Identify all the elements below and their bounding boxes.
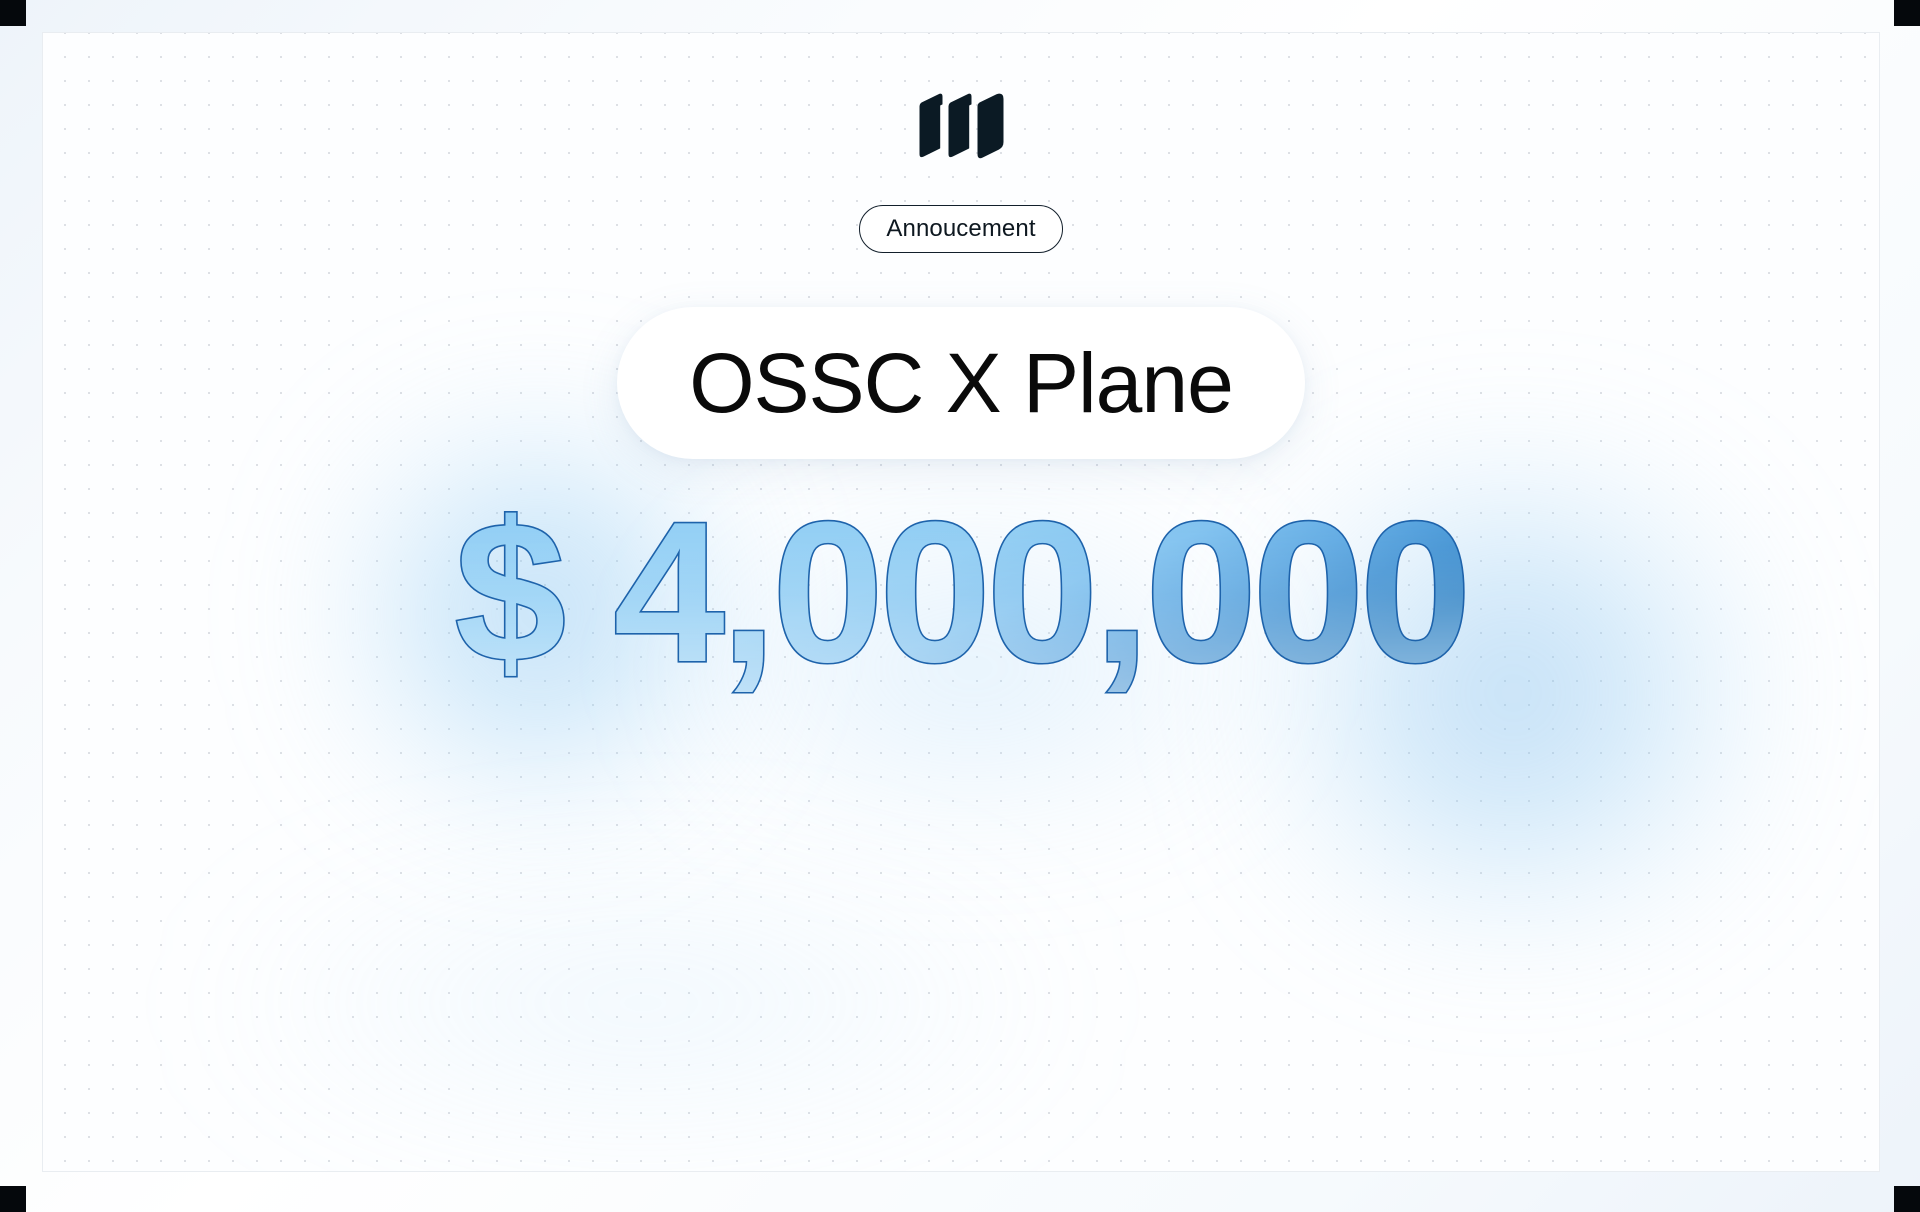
announcement-content: Annoucement OSSC X Plane bbox=[43, 33, 1879, 1171]
corner-mark-bottom-right bbox=[1894, 1186, 1920, 1212]
corner-mark-bottom-left bbox=[0, 1186, 26, 1212]
amount-display: $ 4,000,000 $ 4,000,000 bbox=[401, 501, 1521, 711]
artboard-frame: Annoucement OSSC X Plane bbox=[42, 32, 1880, 1172]
title-pill: OSSC X Plane bbox=[617, 307, 1305, 459]
ossc-logo-icon bbox=[913, 93, 1009, 159]
amount-sheen-overlay bbox=[401, 501, 1521, 711]
corner-mark-top-right bbox=[1894, 0, 1920, 26]
announcement-badge[interactable]: Annoucement bbox=[859, 205, 1062, 253]
amount-container: $ 4,000,000 $ 4,000,000 bbox=[43, 501, 1879, 711]
corner-mark-top-left bbox=[0, 0, 26, 26]
announcement-canvas: Annoucement OSSC X Plane bbox=[0, 0, 1920, 1212]
page-title: OSSC X Plane bbox=[689, 341, 1233, 425]
